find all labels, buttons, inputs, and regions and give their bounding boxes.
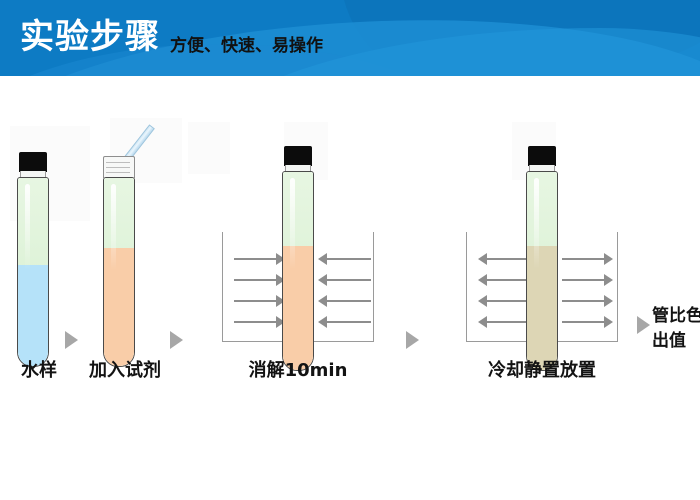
tube-liquid bbox=[283, 246, 313, 370]
tube-cap-icon bbox=[528, 146, 556, 166]
tube-liquid bbox=[527, 246, 557, 370]
step-add-reagent[interactable]: 加入试剂 bbox=[86, 76, 164, 500]
tube-liquid bbox=[18, 265, 48, 366]
chamber-left-wall bbox=[466, 232, 467, 342]
step-caption: 冷却静置放置 bbox=[466, 360, 618, 382]
step-caption: 消解10min bbox=[222, 360, 374, 382]
final-result-line1: 管比色 bbox=[652, 304, 700, 329]
step-caption: 水样 bbox=[0, 360, 78, 382]
steps-container: 水样 加入试剂 bbox=[0, 76, 700, 500]
pipette-stick bbox=[125, 124, 155, 160]
tube-cap-icon bbox=[19, 152, 47, 172]
tube-body bbox=[103, 177, 135, 367]
chamber-right-wall bbox=[617, 232, 618, 342]
chamber-left-wall bbox=[222, 232, 223, 342]
chamber-right-wall bbox=[373, 232, 374, 342]
connector-1 bbox=[65, 331, 78, 349]
final-result: 管比色 出值 bbox=[652, 304, 700, 354]
tube-highlight bbox=[111, 184, 116, 270]
pipette-icon bbox=[112, 118, 152, 158]
final-result-line2: 出值 bbox=[652, 329, 700, 354]
step-digest[interactable]: 消解10min bbox=[222, 76, 382, 500]
page-subtitle: 方便、快速、易操作 bbox=[170, 35, 323, 57]
tube-liquid bbox=[104, 248, 134, 366]
tube-highlight bbox=[534, 178, 539, 269]
step-water-sample[interactable]: 水样 bbox=[0, 76, 78, 500]
tube-cap-icon bbox=[284, 146, 312, 166]
page-title: 实验步骤 bbox=[20, 17, 160, 57]
connector-3 bbox=[406, 331, 419, 349]
tube-highlight bbox=[290, 178, 295, 269]
tube-highlight bbox=[25, 184, 30, 270]
page-header: 实验步骤 方便、快速、易操作 bbox=[0, 0, 700, 76]
step-caption: 加入试剂 bbox=[76, 360, 174, 382]
tube-body bbox=[282, 171, 314, 371]
tube-body bbox=[526, 171, 558, 371]
tube-open-mouth bbox=[103, 156, 135, 178]
connector-2 bbox=[170, 331, 183, 349]
step-cool-settle[interactable]: 冷却静置放置 bbox=[466, 76, 626, 500]
connector-4 bbox=[637, 316, 650, 334]
slide-root: 实验步骤 方便、快速、易操作 水样 bbox=[0, 0, 700, 500]
tube-body bbox=[17, 177, 49, 367]
